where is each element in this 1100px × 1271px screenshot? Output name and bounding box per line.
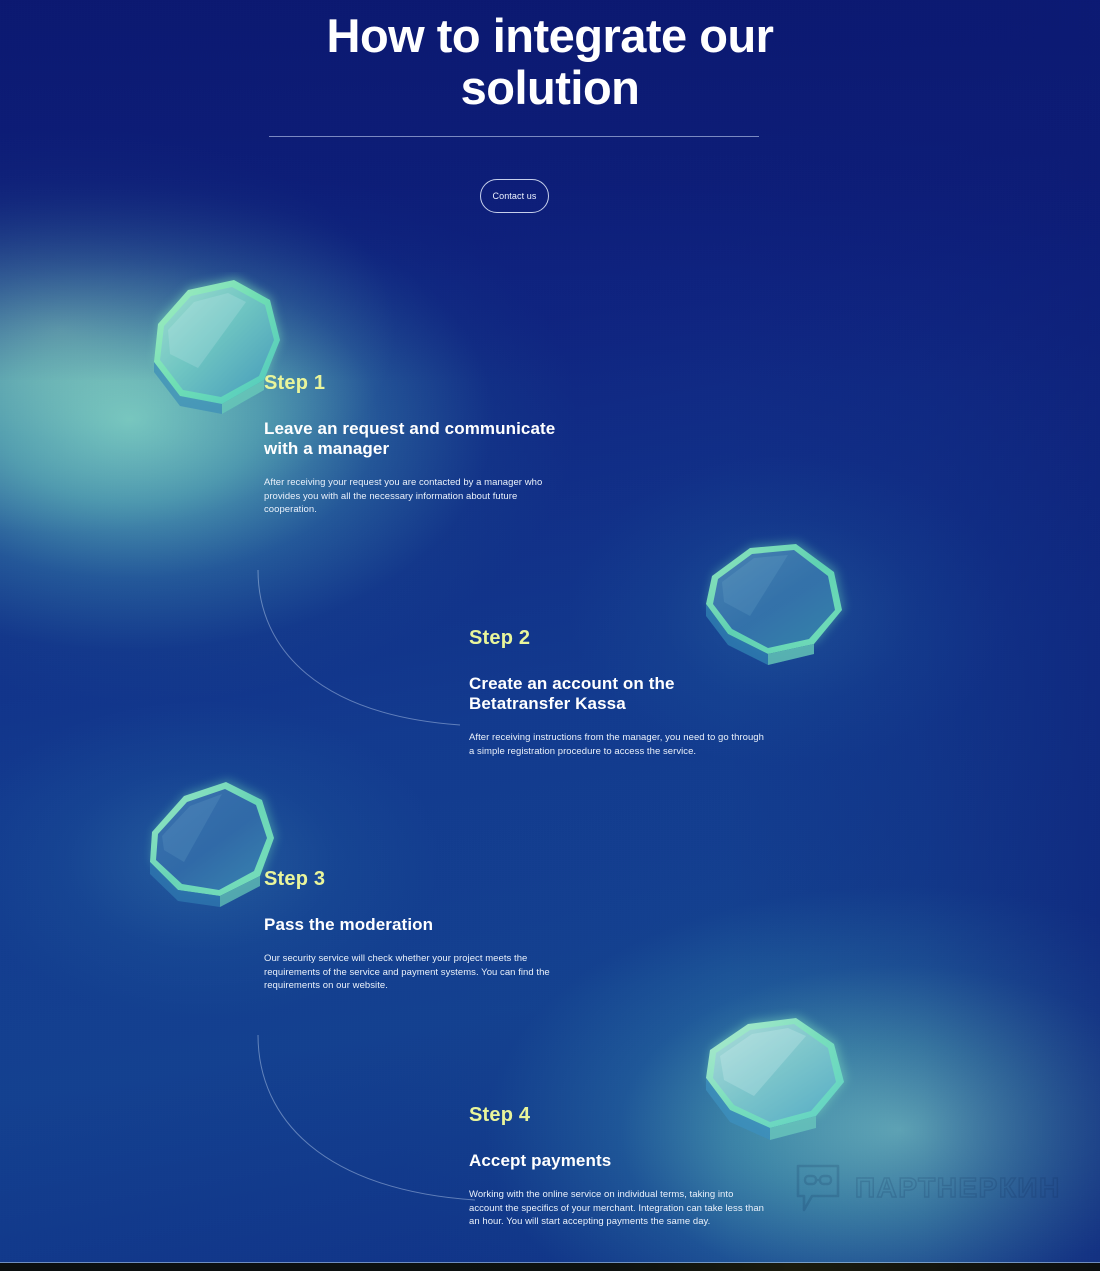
step-1-title: Leave an request and communicate with a … [264,419,564,459]
bottom-edge-strip [0,1263,1100,1271]
step-block-3: Step 3 Pass the moderation Our security … [264,868,564,993]
step-3-label: Step 3 [264,868,564,891]
step-block-2: Step 2 Create an account on the Betatran… [469,627,769,758]
page-title: How to integrate our solution [270,10,830,114]
step-1-description: After receiving your request you are con… [264,476,564,517]
watermark-text: ПАРТНЕРКИН [855,1172,1061,1204]
step-2-title: Create an account on the Betatransfer Ka… [469,674,769,714]
contact-us-button[interactable]: Contact us [480,179,549,213]
page-header: How to integrate our solution [0,0,1100,114]
step-block-1: Step 1 Leave an request and communicate … [264,372,564,517]
step-4-label: Step 4 [469,1104,769,1127]
step-3-title: Pass the moderation [264,915,564,935]
step-1-label: Step 1 [264,372,564,395]
speech-bubble-glasses-icon [795,1162,841,1214]
page-root: How to integrate our solution Contact us… [0,0,1100,1271]
header-divider [269,136,759,137]
step-2-label: Step 2 [469,627,769,650]
step-4-title: Accept payments [469,1151,769,1171]
watermark: ПАРТНЕРКИН [795,1162,1061,1214]
step-2-description: After receiving instructions from the ma… [469,731,769,758]
step-block-4: Step 4 Accept payments Working with the … [469,1104,769,1229]
step-4-description: Working with the online service on indiv… [469,1188,769,1229]
step-3-description: Our security service will check whether … [264,952,564,993]
